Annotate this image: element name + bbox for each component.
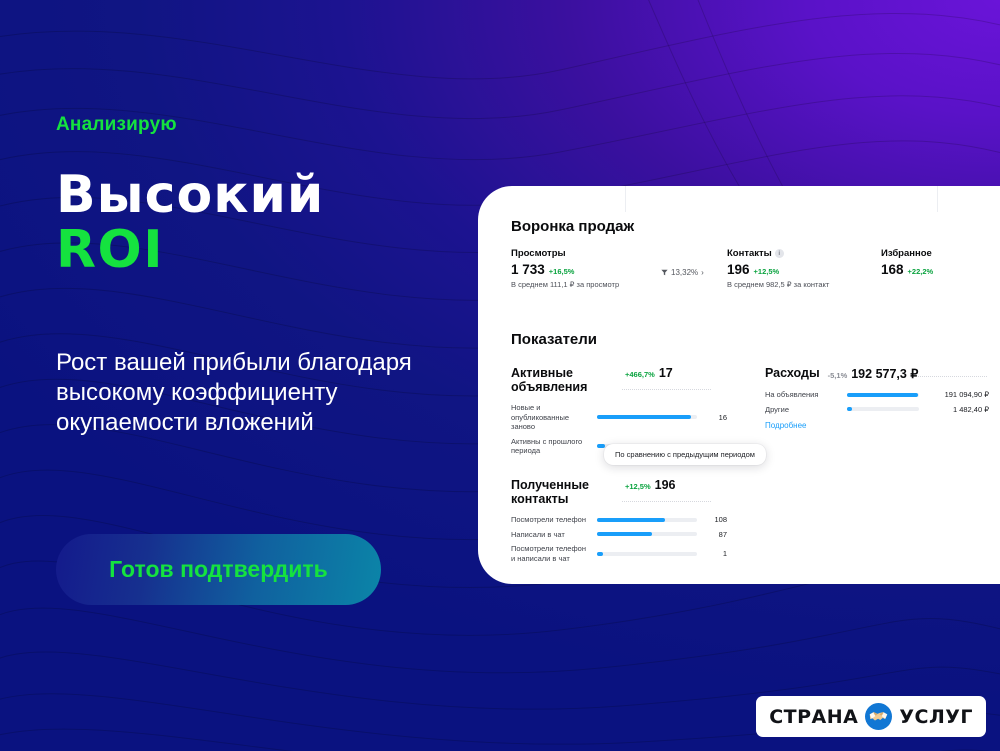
metric-block-spend: Расходы -5,1% 192 577,3 ₽ На объявления … — [765, 366, 987, 430]
metric-row-value: 16 — [705, 413, 727, 422]
metric-row-bar — [597, 415, 697, 419]
card-top-divider — [625, 186, 626, 212]
funnel-cell-name: Контакты — [727, 248, 772, 259]
funnel-cell-delta: +16,5% — [549, 267, 575, 276]
logo-word-left: СТРАНА — [769, 706, 858, 728]
metric-block-received-contacts: Полученные контакты +12,5% 196 Посмотрел… — [511, 478, 711, 568]
logo-word-right: УСЛУГ — [899, 706, 973, 728]
metric-row-bar — [597, 532, 697, 536]
funnel-cell-subtext: В среднем 111,1 ₽ за просмотр — [511, 280, 619, 289]
metric-row-bar — [597, 552, 697, 556]
metric-delta: -5,1% — [828, 371, 848, 380]
handshake-icon — [865, 703, 892, 730]
metric-row-label: На объявления — [765, 390, 839, 400]
funnel-cell-views: Просмотры 1 733 +16,5% В среднем 111,1 ₽… — [511, 248, 619, 289]
metric-summary: -5,1% 192 577,3 ₽ — [824, 366, 919, 381]
metric-row-value: 108 — [705, 515, 727, 524]
metric-row-value: 1 — [705, 549, 727, 558]
funnel-metrics-row: Просмотры 1 733 +16,5% В среднем 111,1 ₽… — [511, 248, 1000, 296]
metric-row-value: 1 482,40 ₽ — [927, 405, 989, 414]
metric-row-bar — [597, 518, 697, 522]
metric-row-bar — [847, 407, 919, 411]
subheadline-text: Рост вашей прибыли благодаря высокому ко… — [56, 348, 476, 438]
funnel-cell-delta: +22,2% — [908, 267, 934, 276]
card-top-divider — [937, 186, 938, 212]
metric-total: 192 577,3 ₽ — [851, 366, 918, 381]
funnel-cell-value: 168 — [881, 262, 904, 277]
conversion-rate-value: 13,32% — [671, 268, 698, 277]
comparison-tooltip: По сравнению с предыдущим периодом — [604, 444, 766, 465]
metric-row: Посмотрели телефон 108 — [511, 515, 711, 525]
chevron-right-icon: › — [701, 268, 704, 277]
info-icon[interactable]: i — [775, 249, 784, 258]
metric-total: 17 — [659, 366, 673, 380]
metric-delta: +466,7% — [625, 370, 655, 379]
eyebrow-label: Анализирую — [56, 114, 177, 136]
metric-row-value: 191 094,90 ₽ — [927, 390, 989, 399]
metric-total: 196 — [655, 478, 676, 492]
spend-details-link[interactable]: Подробнее — [765, 421, 987, 430]
metric-row: Другие 1 482,40 ₽ — [765, 405, 987, 415]
metric-title: Расходы — [765, 366, 824, 380]
metric-delta: +12,5% — [625, 482, 651, 491]
metric-row-bar — [847, 393, 919, 397]
metric-title: Активные объявления — [511, 366, 621, 394]
conversion-rate-button[interactable]: 13,32% › — [661, 268, 704, 277]
funnel-icon — [661, 269, 668, 276]
confirm-button[interactable]: Готов подтвердить — [56, 534, 381, 605]
funnel-cell-name: Избранное — [881, 248, 933, 259]
metric-header: Расходы -5,1% 192 577,3 ₽ — [765, 366, 987, 381]
funnel-cell-value-row: 168 +22,2% — [881, 262, 933, 277]
metric-row: Новые и опубликованные заново 16 — [511, 403, 711, 432]
metric-title: Полученные контакты — [511, 478, 621, 506]
promo-panel: Анализирую Высокий ROI Рост вашей прибыл… — [56, 0, 526, 751]
funnel-cell-value-row: 196 +12,5% — [727, 262, 829, 277]
funnel-cell-value-row: 1 733 +16,5% — [511, 262, 619, 277]
headline-line-2: ROI — [56, 222, 324, 278]
metric-header: Активные объявления +466,7% 17 — [511, 366, 711, 394]
funnel-section-title: Воронка продаж — [511, 218, 634, 235]
metric-header: Полученные контакты +12,5% 196 — [511, 478, 711, 506]
funnel-cell-name: Просмотры — [511, 248, 619, 259]
page-title: Высокий ROI — [56, 168, 324, 278]
headline-line-1: Высокий — [56, 168, 324, 222]
funnel-cell-name-row: Контакты i — [727, 248, 829, 259]
metric-summary: +12,5% 196 — [621, 478, 676, 492]
metric-row-label: Другие — [765, 405, 839, 415]
funnel-cell-subtext: В среднем 982,5 ₽ за контакт — [727, 280, 829, 289]
brand-logo: СТРАНА УСЛУГ — [756, 696, 986, 737]
metric-row: Написали в чат 87 — [511, 530, 711, 540]
funnel-cell-contacts: Контакты i 196 +12,5% В среднем 982,5 ₽ … — [727, 248, 829, 289]
metric-row-value: 87 — [705, 530, 727, 539]
metric-row: Посмотрели телефон и написали в чат 1 — [511, 544, 711, 563]
metric-summary: +466,7% 17 — [621, 366, 673, 380]
confirm-button-label: Готов подтвердить — [109, 556, 328, 583]
funnel-cell-value: 196 — [727, 262, 750, 277]
metric-row: На объявления 191 094,90 ₽ — [765, 390, 987, 400]
funnel-cell-favorites: Избранное 168 +22,2% — [881, 248, 933, 280]
dashboard-card: Воронка продаж Просмотры 1 733 +16,5% В … — [478, 186, 1000, 584]
funnel-cell-delta: +12,5% — [754, 267, 780, 276]
